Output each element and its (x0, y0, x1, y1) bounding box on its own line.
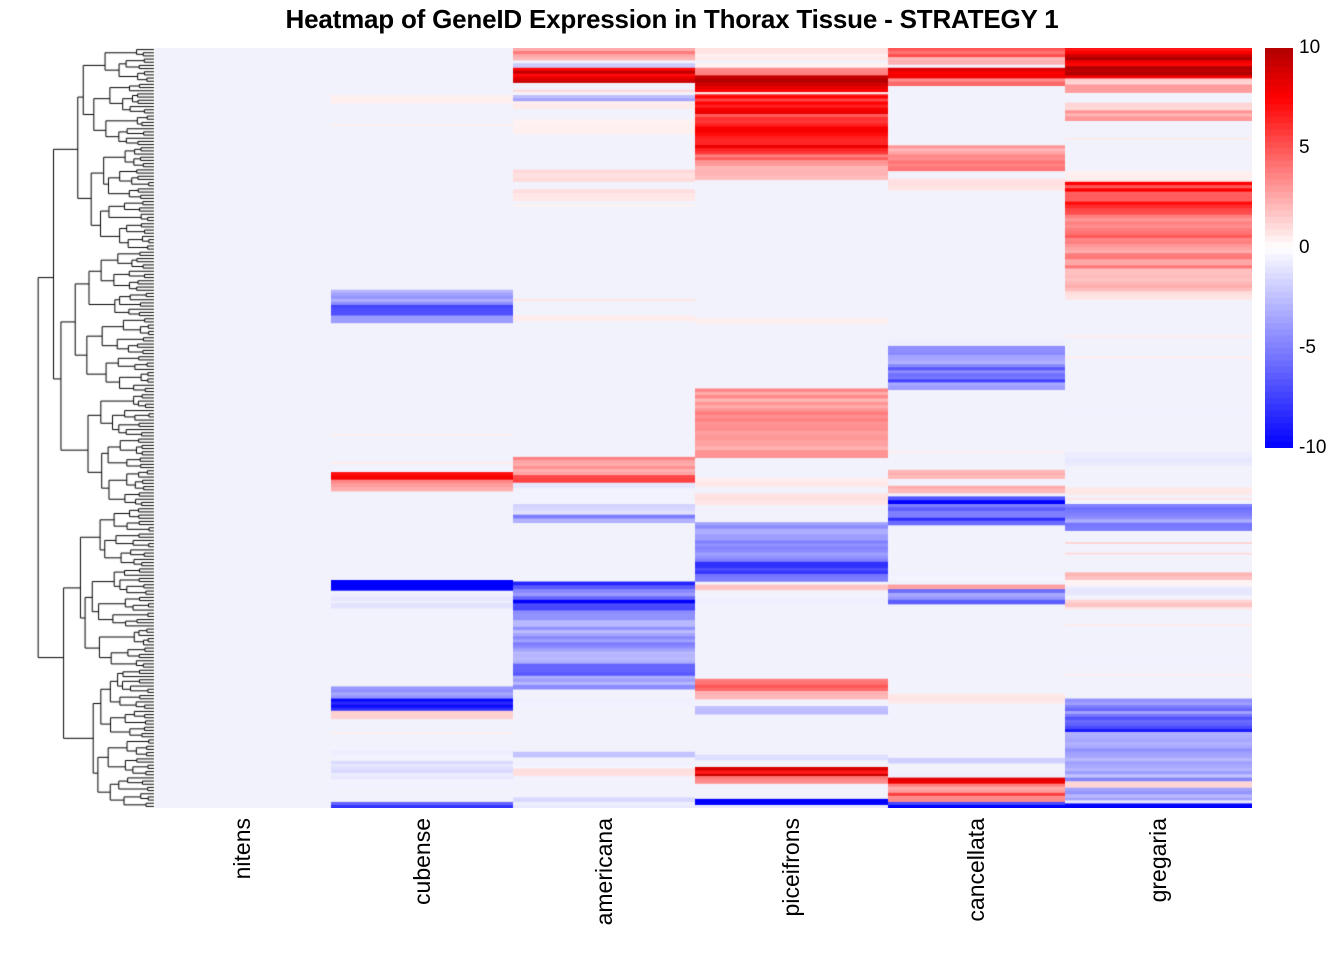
dendrogram-canvas (0, 48, 155, 808)
xtick-nitens: nitens (223, 818, 263, 958)
page-title: Heatmap of GeneID Expression in Thorax T… (0, 4, 1344, 35)
xtick-cubense: cubense (402, 818, 442, 958)
xtick-cancellata: cancellata (957, 818, 997, 958)
heatmap-grid[interactable] (155, 48, 1252, 808)
xtick-americana: americana (584, 818, 624, 958)
colorbar-tick-neg5: -5 (1299, 337, 1316, 359)
xtick-label-cancellata: cancellata (965, 818, 988, 922)
colorbar-tick-10: 10 (1299, 37, 1320, 59)
xtick-piceifrons: piceifrons (772, 818, 812, 958)
xtick-gregaria: gregaria (1139, 818, 1179, 958)
xtick-label-gregaria: gregaria (1147, 818, 1170, 902)
row-dendrogram (0, 48, 155, 808)
colorbar-tick-neg10: -10 (1299, 437, 1326, 459)
colorbar (1265, 48, 1293, 448)
xtick-label-americana: americana (593, 818, 616, 925)
xtick-label-cubense: cubense (411, 818, 434, 905)
colorbar-tick-0: 0 (1299, 237, 1310, 259)
figure-canvas: Heatmap of GeneID Expression in Thorax T… (0, 0, 1344, 960)
heatmap-canvas[interactable] (155, 48, 1252, 808)
colorbar-gradient (1265, 48, 1293, 448)
xtick-label-piceifrons: piceifrons (780, 818, 803, 916)
xtick-label-nitens: nitens (231, 818, 254, 879)
colorbar-tick-5: 5 (1299, 137, 1310, 159)
